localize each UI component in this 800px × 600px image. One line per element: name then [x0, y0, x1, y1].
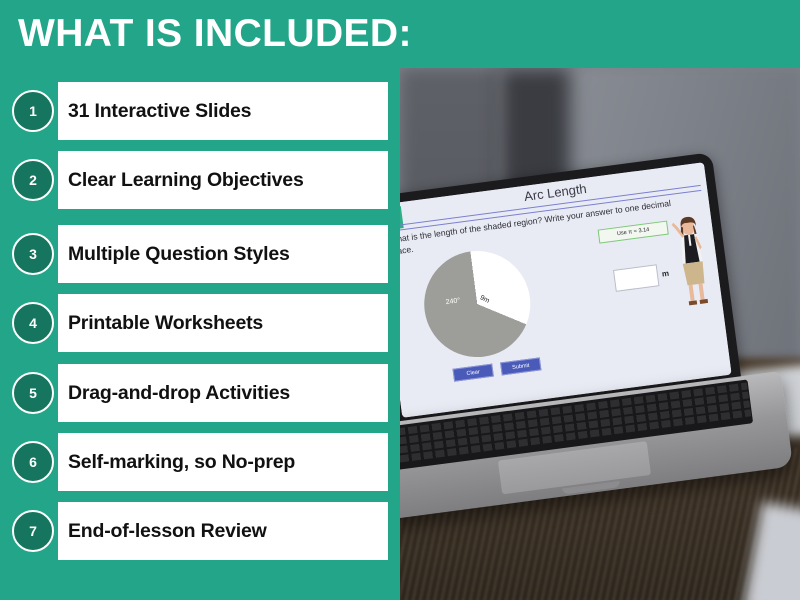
- feature-number-badge: 4: [12, 302, 54, 344]
- feature-box: End-of-lesson Review: [58, 502, 388, 560]
- laptop-photo: Arc Length What is the length of the sha…: [400, 68, 800, 600]
- sector-shape: [418, 245, 537, 364]
- feature-label: Drag-and-drop Activities: [58, 382, 290, 405]
- feature-box: Multiple Question Styles: [58, 225, 388, 283]
- feature-row: Multiple Question Styles3: [0, 225, 400, 285]
- feature-label: Multiple Question Styles: [58, 243, 290, 266]
- owl-logo-icon: [400, 206, 404, 231]
- feature-label: Printable Worksheets: [58, 312, 263, 335]
- header-band: WHAT IS INCLUDED:: [0, 0, 800, 68]
- feature-row: End-of-lesson Review7: [0, 502, 400, 562]
- feature-number-badge: 5: [12, 372, 54, 414]
- feature-number-badge: 3: [12, 233, 54, 275]
- sector-diagram: 240° 9m: [418, 245, 537, 364]
- answer-input[interactable]: [613, 264, 659, 292]
- feature-label: 31 Interactive Slides: [58, 100, 251, 123]
- feature-row: Drag-and-drop Activities5: [0, 364, 400, 424]
- presenter-figure-icon: [662, 211, 716, 312]
- feature-row: Clear Learning Objectives2: [0, 151, 400, 211]
- lesson-slide: Arc Length What is the length of the sha…: [400, 162, 732, 418]
- feature-label: End-of-lesson Review: [58, 520, 267, 543]
- feature-box: Drag-and-drop Activities: [58, 364, 388, 422]
- submit-button[interactable]: Submit: [500, 357, 541, 375]
- feature-box: 31 Interactive Slides: [58, 82, 388, 140]
- feature-number-badge: 2: [12, 159, 54, 201]
- feature-box: Clear Learning Objectives: [58, 151, 388, 209]
- feature-box: Printable Worksheets: [58, 294, 388, 352]
- laptop: Arc Length What is the length of the sha…: [400, 142, 800, 600]
- feature-label: Self-marking, so No-prep: [58, 451, 295, 474]
- feature-list: 31 Interactive Slides1Clear Learning Obj…: [0, 68, 400, 600]
- feature-number-badge: 7: [12, 510, 54, 552]
- feature-box: Self-marking, so No-prep: [58, 433, 388, 491]
- feature-row: Printable Worksheets4: [0, 294, 400, 354]
- laptop-screen: Arc Length What is the length of the sha…: [400, 162, 732, 418]
- answer-unit-label: m: [661, 269, 669, 279]
- feature-row: Self-marking, so No-prep6: [0, 433, 400, 493]
- feature-row: 31 Interactive Slides1: [0, 82, 400, 142]
- clear-button[interactable]: Clear: [452, 364, 493, 382]
- page-title: WHAT IS INCLUDED:: [18, 12, 412, 56]
- feature-label: Clear Learning Objectives: [58, 169, 304, 192]
- feature-number-badge: 1: [12, 90, 54, 132]
- feature-number-badge: 6: [12, 441, 54, 483]
- poster-root: WHAT IS INCLUDED: 31 Interactive Slides1…: [0, 0, 800, 600]
